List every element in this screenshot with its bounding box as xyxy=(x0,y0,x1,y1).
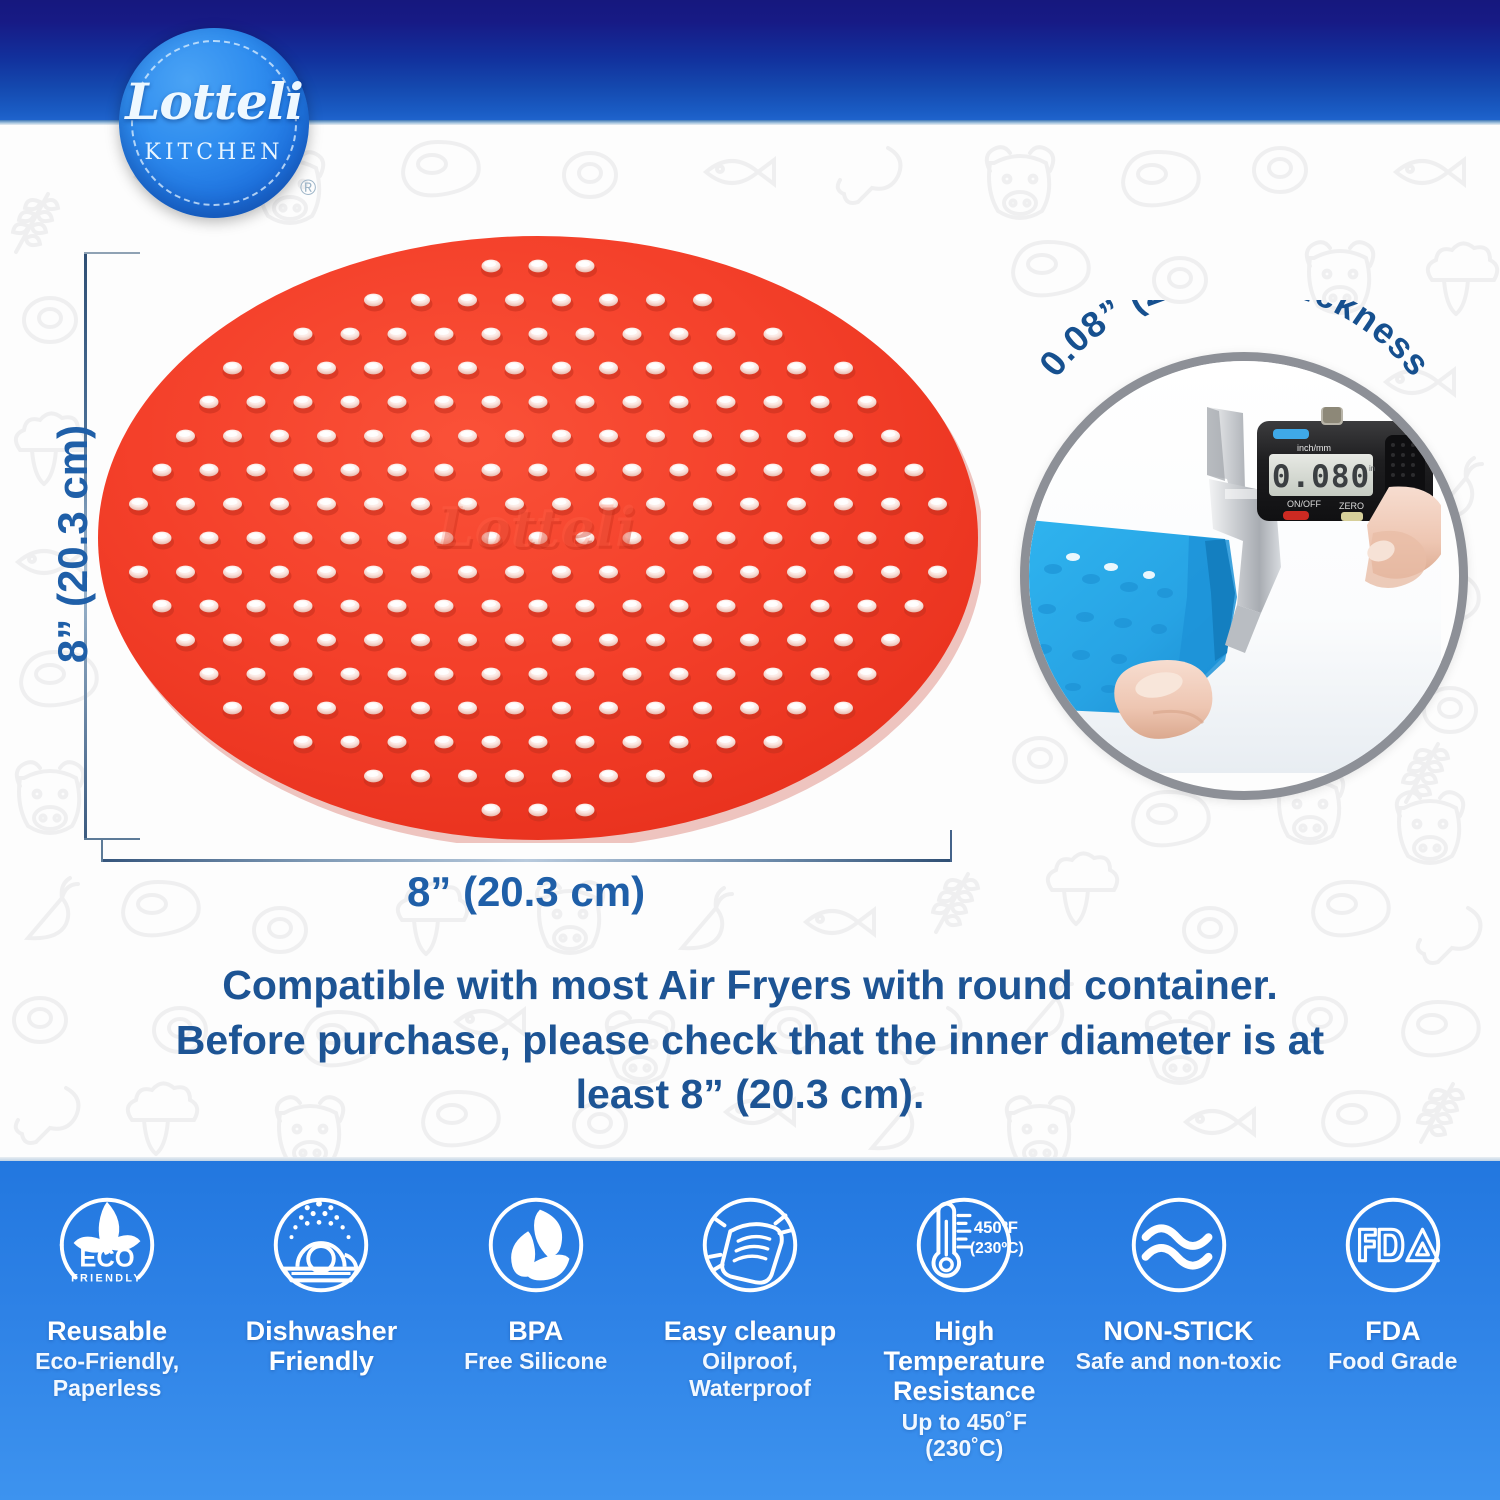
fda-icon xyxy=(1334,1186,1452,1304)
temp-badge-c: (230ºC) xyxy=(970,1240,1023,1257)
eco-badge-main: ECO xyxy=(79,1245,134,1273)
feature-title: Reusable xyxy=(47,1316,167,1346)
feature-title: NON-STICK xyxy=(1104,1316,1254,1346)
eco-leaf-icon: ECO FRIENDLY xyxy=(48,1186,166,1304)
feature-title: High TemperatureResistance xyxy=(861,1316,1067,1407)
svg-text:Lotteli: Lotteli xyxy=(434,495,635,559)
feature-title: Easy cleanup xyxy=(664,1316,837,1346)
feature-subtitle: Up to 450˚F (230˚C) xyxy=(861,1409,1067,1462)
logo-brand-subtitle: KITCHEN xyxy=(119,140,309,165)
hand-wipe-icon xyxy=(691,1186,809,1304)
feature-bpa: BPA Free Silicone xyxy=(429,1180,643,1500)
leaves-icon xyxy=(477,1186,595,1304)
vertical-dimension-tick-top xyxy=(84,252,140,254)
horizontal-dimension-line xyxy=(101,859,952,862)
compatibility-note: Compatible with most Air Fryers with rou… xyxy=(120,958,1380,1122)
wave-lines-icon xyxy=(1120,1186,1238,1304)
vertical-dimension-tick-bottom xyxy=(84,838,140,840)
embossed-logo: Lotteli Lotteli xyxy=(434,495,637,562)
temp-badge-f: 450ºF xyxy=(974,1218,1018,1237)
feature-subtitle: Free Silicone xyxy=(464,1348,607,1375)
height-dimension-label: 8” (20.3 cm) xyxy=(49,394,97,694)
footer-top-edge xyxy=(0,1157,1500,1161)
feature-reusable: ECO FRIENDLY Reusable Eco-Friendly,Paper… xyxy=(0,1180,214,1500)
svg-text:0.08” (2 mm) thickness: 0.08” (2 mm) thickness xyxy=(1031,300,1439,384)
compatibility-note-line-1: Compatible with most Air Fryers with rou… xyxy=(120,958,1380,1013)
silicone-mat-photo: Lotteli Lotteli xyxy=(96,233,981,843)
horizontal-dimension-tick-left xyxy=(101,838,103,862)
feature-dishwasher: DishwasherFriendly xyxy=(214,1180,428,1500)
feature-subtitle: Safe and non-toxic xyxy=(1076,1348,1282,1375)
eco-badge-sub: FRIENDLY xyxy=(71,1272,143,1284)
width-dimension-label: 8” (20.3 cm) xyxy=(301,868,751,916)
thermometer-icon: 450ºF (230ºC) xyxy=(905,1186,1023,1304)
feature-row: ECO FRIENDLY Reusable Eco-Friendly,Paper… xyxy=(0,1180,1500,1500)
feature-title: DishwasherFriendly xyxy=(246,1316,398,1376)
dishwasher-icon xyxy=(262,1186,380,1304)
registered-trademark-icon: ® xyxy=(300,175,316,201)
feature-fda: FDA Food Grade xyxy=(1286,1180,1500,1500)
feature-subtitle: Eco-Friendly,Paperless xyxy=(35,1348,179,1401)
feature-title: FDA xyxy=(1365,1316,1421,1346)
feature-high-temperature: 450ºF (230ºC) High TemperatureResistance… xyxy=(857,1180,1071,1500)
thickness-callout-text: 0.08” (2 mm) thickness xyxy=(1031,300,1439,384)
feature-subtitle: Oilproof, Waterproof xyxy=(647,1348,853,1401)
logo-brand-name: Lotteli xyxy=(119,72,309,131)
brand-logo: Lotteli KITCHEN xyxy=(119,28,309,218)
thickness-callout-label: 0.08” (2 mm) thickness xyxy=(1000,300,1470,550)
feature-subtitle: Food Grade xyxy=(1328,1348,1457,1375)
infographic-page: Dimensions Lotteli KITCHEN ® 8” (20.3 cm… xyxy=(0,0,1500,1500)
feature-title: BPA xyxy=(508,1316,563,1346)
feature-easy-cleanup: Easy cleanup Oilproof, Waterproof xyxy=(643,1180,857,1500)
compatibility-note-line-3: least 8” (20.3 cm). xyxy=(120,1067,1380,1122)
compatibility-note-line-2: Before purchase, please check that the i… xyxy=(120,1013,1380,1068)
feature-non-stick: NON-STICK Safe and non-toxic xyxy=(1071,1180,1285,1500)
horizontal-dimension-tick-right xyxy=(950,830,952,862)
